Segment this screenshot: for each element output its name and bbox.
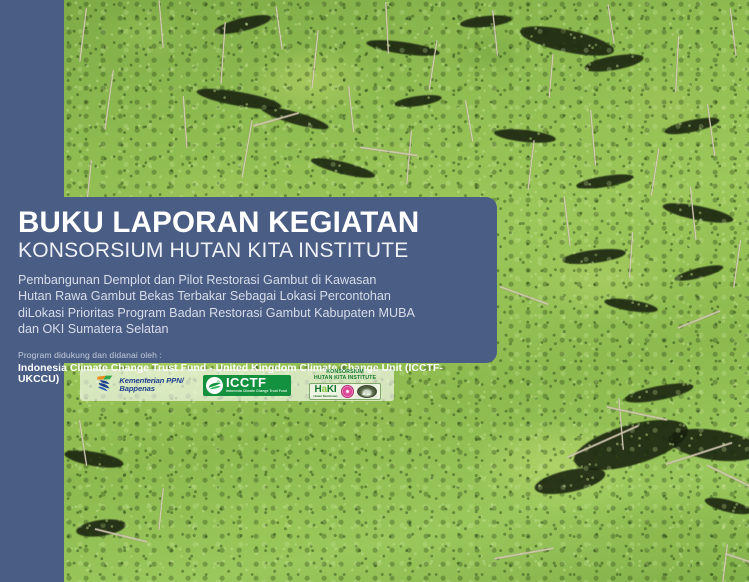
icctf-wordmark: ICCTF Indonesia Climate Change Trust Fun… bbox=[226, 376, 287, 393]
logo-bar: Kementerian PPN/ Bappenas ICCTF Ind bbox=[80, 369, 394, 401]
pink-circular-emblem-icon bbox=[341, 385, 354, 398]
haki-name: HaKI bbox=[313, 385, 337, 395]
logo-icctf: ICCTF Indonesia Climate Change Trust Fun… bbox=[198, 369, 296, 401]
logo-konsorsium-haki: KONSORSIUM HUTAN KITA INSTITUTE HaKI Hut… bbox=[296, 369, 394, 401]
description-line: dan OKI Sumatera Selatan bbox=[18, 321, 422, 337]
dark-oval-emblem-icon bbox=[357, 385, 377, 398]
haki-subtitle: Hutan Kemitraan bbox=[313, 395, 337, 398]
icctf-name: ICCTF bbox=[226, 376, 287, 389]
book-cover: BUKU LAPORAN KEGIATAN KONSORSIUM HUTAN K… bbox=[0, 0, 749, 582]
konsorsium-header-line-2: HUTAN KITA INSTITUTE bbox=[309, 376, 380, 381]
description-line: Hutan Rawa Gambut Bekas Terbakar Sebagai… bbox=[18, 288, 422, 304]
description-line: diLokasi Prioritas Program Badan Restora… bbox=[18, 305, 422, 321]
page-subtitle: KONSORSIUM HUTAN KITA INSTITUTE bbox=[18, 239, 483, 263]
logo-bappenas: Kementerian PPN/ Bappenas bbox=[80, 369, 198, 401]
description-line: Pembangunan Demplot dan Pilot Restorasi … bbox=[18, 272, 422, 288]
funding-label: Program didukung dan didanai oleh : bbox=[18, 350, 483, 360]
page-title: BUKU LAPORAN KEGIATAN bbox=[18, 208, 483, 238]
cover-description: Pembangunan Demplot dan Pilot Restorasi … bbox=[18, 272, 422, 337]
icctf-tagline: Indonesia Climate Change Trust Fund bbox=[226, 390, 287, 393]
title-panel: BUKU LAPORAN KEGIATAN KONSORSIUM HUTAN K… bbox=[0, 197, 497, 363]
haki-wordmark: HaKI Hutan Kemitraan bbox=[313, 385, 337, 399]
bappenas-garuda-icon bbox=[94, 372, 116, 399]
bappenas-line-2: Bappenas bbox=[119, 385, 183, 393]
bappenas-wordmark: Kementerian PPN/ Bappenas bbox=[119, 377, 183, 392]
icctf-seal-icon bbox=[205, 376, 224, 395]
